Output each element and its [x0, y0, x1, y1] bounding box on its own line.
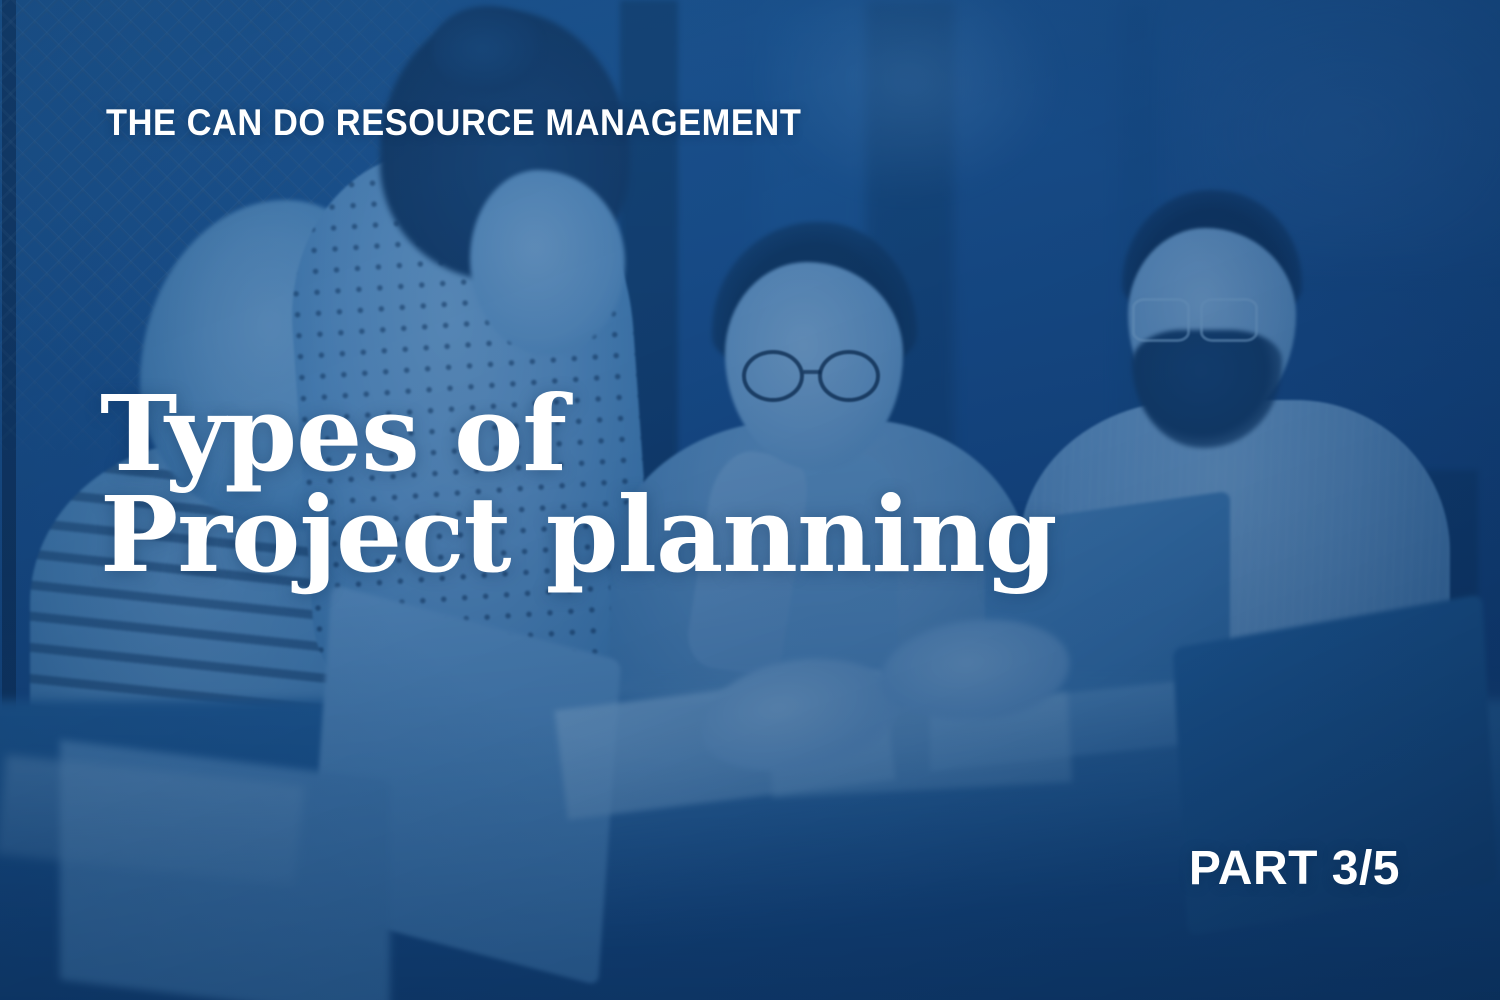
part-badge: PART 3/5 [1189, 845, 1400, 893]
page-title-line-2: Project planning [100, 481, 1056, 588]
series-eyebrow-label: THE CAN DO RESOURCE MANAGEMENT [106, 104, 801, 141]
page-title: Types of Project planning [100, 380, 1056, 588]
page-title-line-1: Types of [100, 380, 1056, 487]
text-layer: THE CAN DO RESOURCE MANAGEMENT Types of … [0, 0, 1500, 1000]
title-slide: THE CAN DO RESOURCE MANAGEMENT Types of … [0, 0, 1500, 1000]
